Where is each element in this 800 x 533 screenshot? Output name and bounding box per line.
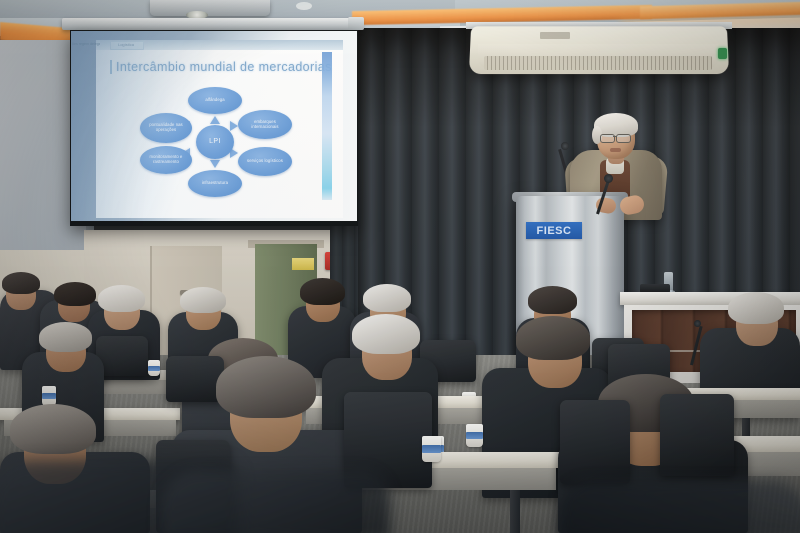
slide-title: Intercâmbio mundial de mercadorias bbox=[116, 60, 331, 75]
audience-person-hair bbox=[39, 322, 92, 352]
projection-screen-housing bbox=[62, 18, 362, 30]
audience-person-hair bbox=[2, 272, 40, 294]
audience-chair bbox=[560, 400, 630, 484]
diagram-node-label: embarques internacionais bbox=[238, 120, 292, 129]
audience-person-hair bbox=[528, 286, 577, 314]
audience-person-hair-white bbox=[352, 314, 420, 354]
conference-photo-scene: ões regem delegada Logística Intercâmbio… bbox=[0, 0, 800, 533]
audience-person-hair bbox=[10, 404, 96, 454]
paper-cup-band bbox=[422, 445, 441, 453]
slide-title-accent-bar bbox=[110, 60, 112, 74]
diagram-node-pontualidade-operacoes: pontualidade nas operações bbox=[140, 113, 192, 143]
diagram-node-label: infraestrutura bbox=[200, 181, 230, 186]
audience-person-hair-white bbox=[98, 285, 145, 312]
diagram-node-center-lpi: LPI bbox=[196, 125, 234, 159]
audience-table-leg bbox=[510, 490, 520, 533]
exit-sign bbox=[292, 258, 314, 270]
speaker-mouth bbox=[610, 148, 621, 152]
lectern-microphone-icon bbox=[561, 142, 569, 150]
audience-person-hair bbox=[216, 356, 316, 418]
diagram-arrow-up-icon bbox=[210, 116, 220, 124]
ceiling-light-fixture bbox=[296, 2, 312, 10]
air-conditioner-badge bbox=[540, 32, 570, 39]
slide-color-strip bbox=[322, 52, 332, 200]
diagram-arrow-down-icon bbox=[210, 160, 220, 168]
diagram-node-label: serviços logísticos bbox=[245, 159, 285, 164]
audience-person-hair-white bbox=[180, 287, 226, 313]
air-conditioner-indicator-icon bbox=[718, 48, 727, 59]
foreground-blur-center bbox=[160, 470, 390, 533]
diagram-node-label: pontualidade nas operações bbox=[140, 123, 192, 132]
diagram-arrow-upright-icon bbox=[230, 121, 238, 131]
audience-person-hair bbox=[54, 282, 96, 306]
projection-screen-housing-cap bbox=[348, 17, 364, 30]
diagram-center-label: LPI bbox=[207, 138, 223, 146]
paper-cup-band bbox=[148, 366, 160, 371]
lectern-logo: FIESC bbox=[526, 222, 582, 239]
diagram-node-label: monitoramento e rastreamento bbox=[140, 155, 192, 164]
audience-person-hair-white bbox=[728, 292, 784, 324]
slide-breadcrumb: ões regem delegada bbox=[72, 42, 100, 47]
diagram-node-monitoramento-rastreamento: monitoramento e rastreamento bbox=[140, 146, 192, 174]
slide-header-tag-label: Logística bbox=[112, 41, 140, 48]
speaker-glasses-bridge bbox=[613, 136, 617, 137]
audience-person-hair bbox=[300, 278, 345, 305]
audience-person-hair bbox=[516, 316, 590, 360]
ceiling-projector bbox=[150, 0, 270, 16]
audience-person-hair-white bbox=[363, 284, 411, 312]
foreground-blur-right bbox=[560, 480, 800, 533]
podium-microphone-icon bbox=[604, 174, 613, 183]
audience-chair bbox=[660, 394, 734, 476]
diagram-node-alfandega: alfândega bbox=[188, 87, 242, 114]
diagram-node-infraestrutura: infraestrutura bbox=[188, 170, 242, 197]
diagram-node-servicos-logisticos: serviços logísticos bbox=[238, 147, 292, 176]
diagram-node-embarques-internacionais: embarques internacionais bbox=[238, 110, 292, 139]
paper-cup-band bbox=[466, 432, 483, 439]
head-table-microphone-icon bbox=[694, 320, 701, 327]
air-conditioner-grill bbox=[484, 56, 712, 70]
paper-cup-band bbox=[42, 393, 56, 399]
speaker-glasses-right-lens-icon bbox=[616, 134, 631, 143]
diagram-node-label: alfândega bbox=[203, 98, 226, 103]
